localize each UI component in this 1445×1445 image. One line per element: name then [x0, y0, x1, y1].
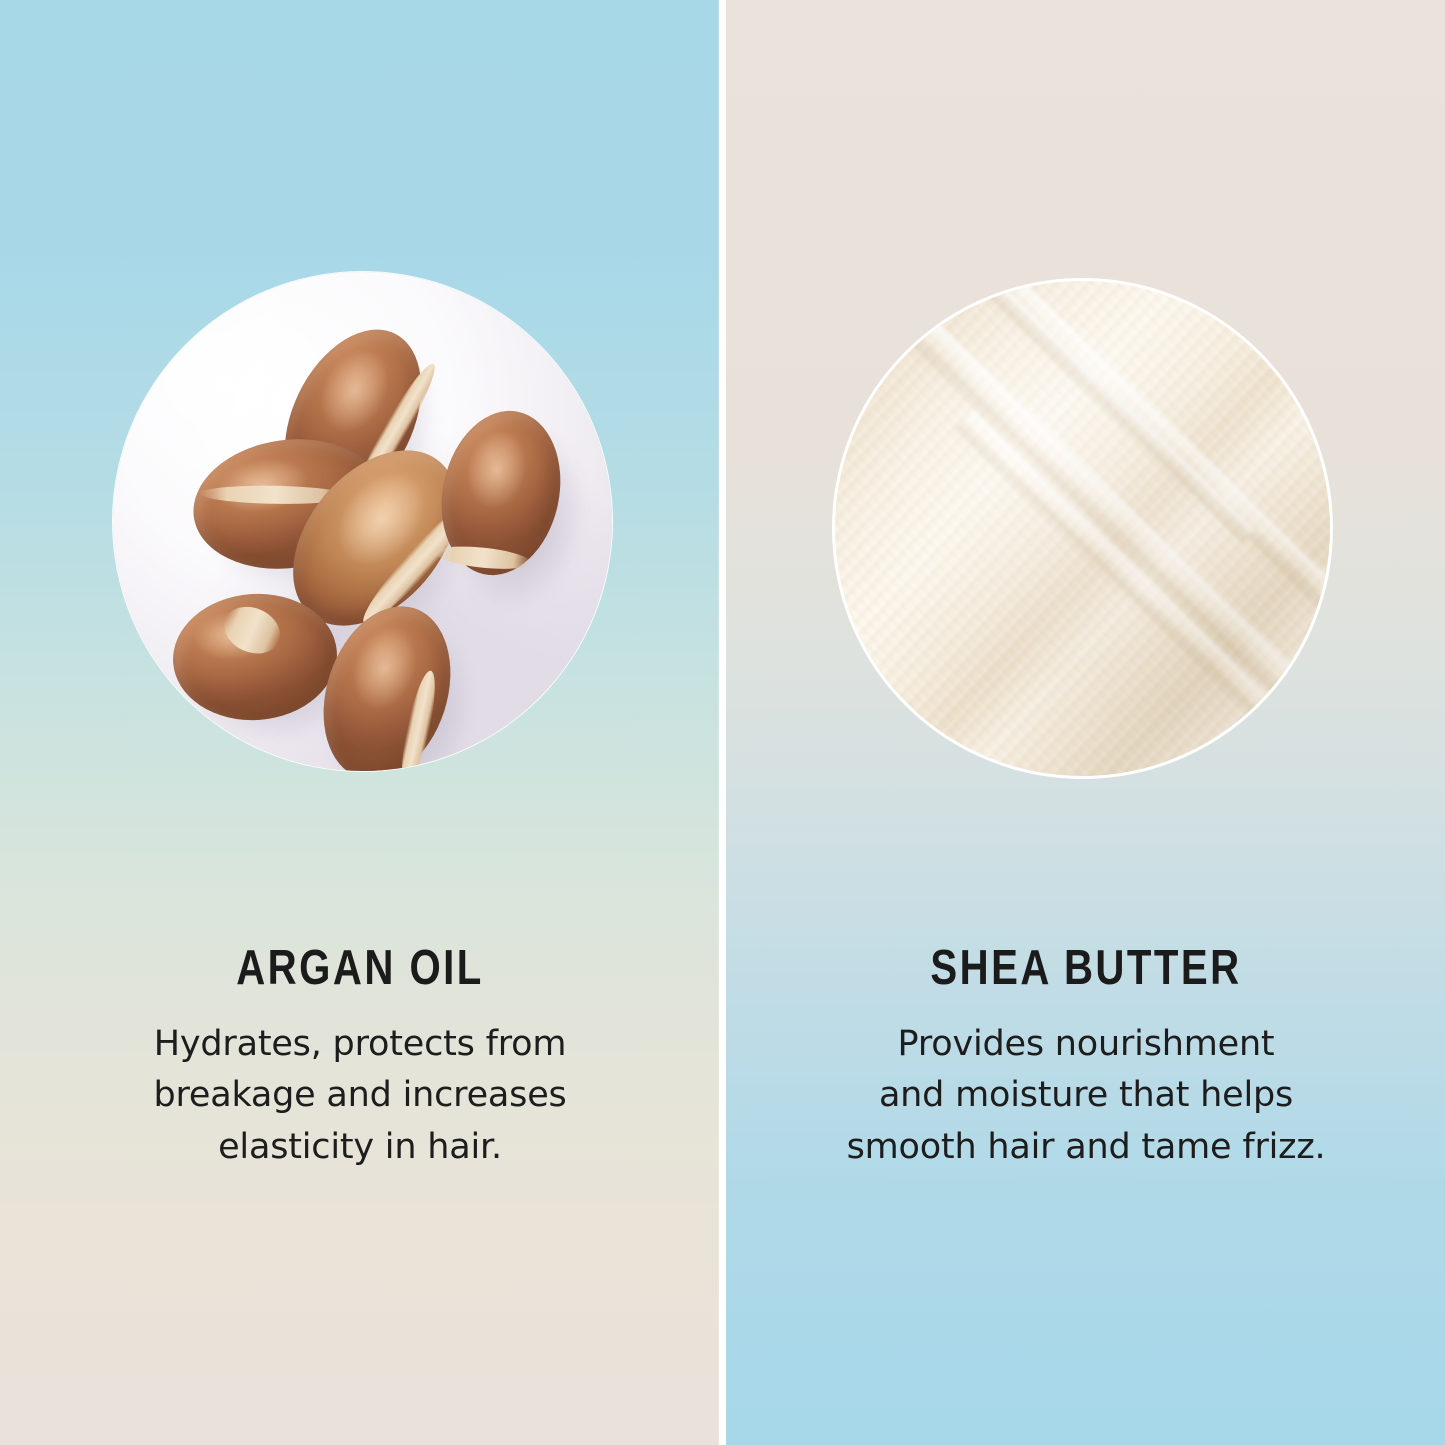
description-line: Provides nourishment [786, 1019, 1386, 1070]
ingredient-comparison-graphic: ARGAN OIL Hydrates, protects from breaka… [0, 0, 1445, 1445]
caption-argan-oil: ARGAN OIL Hydrates, protects from breaka… [60, 944, 660, 1173]
description-line: and moisture that helps [786, 1070, 1386, 1121]
caption-shea-butter: SHEA BUTTER Provides nourishment and moi… [786, 944, 1386, 1173]
description-line: Hydrates, protects from [60, 1019, 660, 1070]
description-line: elasticity in hair. [60, 1122, 660, 1173]
description-argan-oil: Hydrates, protects from breakage and inc… [60, 1019, 660, 1173]
heading-argan-oil: ARGAN OIL [114, 944, 606, 993]
shea-butter-photo [832, 278, 1333, 779]
argan-nuts-photo [113, 272, 612, 771]
description-line: breakage and increases [60, 1070, 660, 1121]
description-shea-butter: Provides nourishment and moisture that h… [786, 1019, 1386, 1173]
panel-divider [718, 0, 726, 1445]
panel-argan-oil: ARGAN OIL Hydrates, protects from breaka… [0, 0, 719, 1445]
shea-butter-shading [835, 281, 1330, 776]
description-line: smooth hair and tame frizz. [786, 1122, 1386, 1173]
heading-shea-butter: SHEA BUTTER [840, 944, 1332, 993]
